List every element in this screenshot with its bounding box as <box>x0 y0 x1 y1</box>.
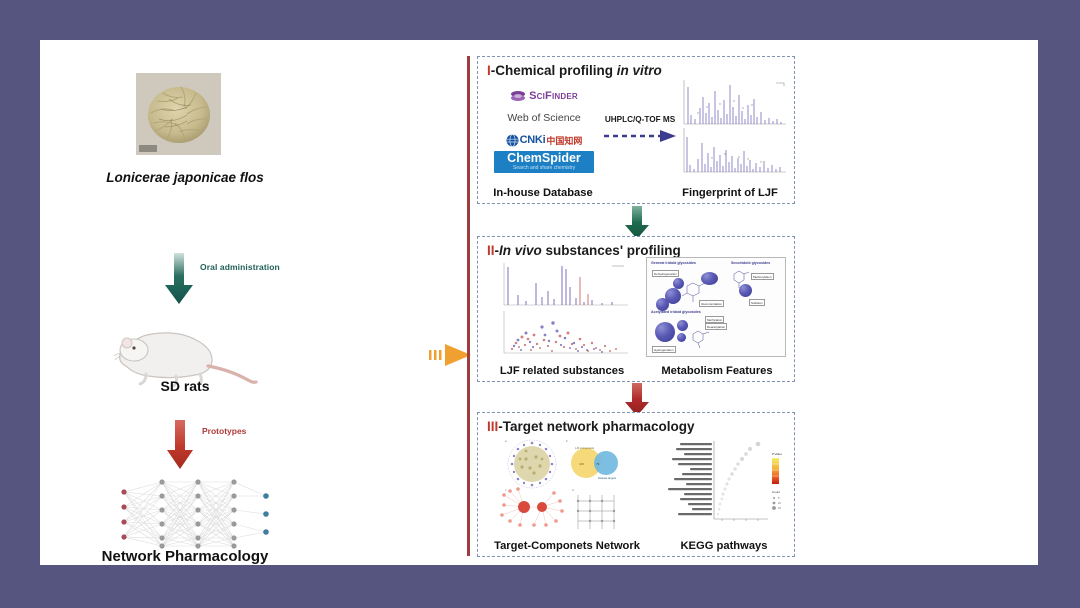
svg-text:a: a <box>505 439 507 443</box>
network-pharmacology-label: Network Pharmacology <box>40 548 330 565</box>
kegg-pathways-dotplot: P.Value Count 51015 <box>650 435 790 533</box>
cnki-logo: CNKi 中国知网 <box>492 129 596 151</box>
metabolite-structure-icon <box>729 268 751 290</box>
prototypes-arrow <box>164 420 196 470</box>
metabolism-features-diagram: General iridoid glycosides Dehydrogenati… <box>646 257 786 357</box>
panel-1-title-italic: in vitro <box>617 63 662 78</box>
neural-network-graph <box>106 476 276 552</box>
ljf-related-substances-spectra <box>492 261 632 357</box>
oral-administration-arrow <box>162 253 196 305</box>
metabolism-group-2-label: Secoiridoid glycosides <box>731 261 770 265</box>
ljf-related-substances-caption: LJF related substances <box>484 365 640 377</box>
panel-2-title-italic: In vivo <box>499 243 542 258</box>
target-components-network-figure: a b LJF components 79 415 Disease target… <box>496 437 636 532</box>
prototypes-label: Prototypes <box>202 426 246 436</box>
panel-2-title: II-In vivo substances' profiling <box>487 243 681 258</box>
oral-administration-label: Oral administration <box>200 262 280 272</box>
svg-text:10: 10 <box>778 502 781 505</box>
slide-background: Lonicerae japonicae flos Oral administra… <box>0 0 1080 608</box>
scifinder-label: SciFinder <box>529 90 578 102</box>
chemspider-tagline: Search and share chemistry <box>494 165 594 171</box>
svg-text:15: 15 <box>778 507 781 510</box>
kegg-color-legend-title: P.Value <box>772 452 782 456</box>
graphical-abstract-canvas: Lonicerae japonicae flos Oral administra… <box>40 40 1038 565</box>
svg-text:c: c <box>505 488 507 492</box>
metabolite-structure-icon <box>687 328 713 350</box>
kegg-size-legend-title: Count <box>772 490 780 494</box>
chemspider-logo: ChemSpider Search and share chemistry <box>492 151 596 173</box>
uhplc-process-label: UHPLC/Q-TOF MS <box>598 115 682 124</box>
panel-in-vivo-profiling: II-In vivo substances' profiling <box>477 236 795 382</box>
cnki-label-cn: 中国知网 <box>546 134 582 147</box>
metabolite-bubble <box>677 333 686 342</box>
svg-text:LJF components: LJF components <box>575 446 595 450</box>
herb-pile-illustration <box>141 79 217 149</box>
metabolism-tag-dehydrogenation: Dehydrogenation <box>652 270 679 277</box>
panel-target-network-pharmacology: III-Target network pharmacology <box>477 412 795 557</box>
target-components-network-caption: Target-Componets Network <box>484 540 650 552</box>
metabolism-features-caption: Metabolism Features <box>642 365 792 377</box>
uhplc-process-arrow <box>602 129 678 143</box>
svg-text:79: 79 <box>596 462 600 466</box>
in-house-database-caption: In-house Database <box>488 187 598 199</box>
metabolite-structure-icon <box>681 280 709 304</box>
chemspider-label: ChemSpider <box>494 152 594 165</box>
web-of-science-label: Web of Science <box>507 112 580 124</box>
metabolism-tag-methoxylation: Methoxylation <box>751 273 774 280</box>
left-workflow-column: Lonicerae japonicae flos Oral administra… <box>40 40 468 565</box>
fingerprint-caption: Fingerprint of LJF <box>664 187 796 199</box>
panel-1-title: I-Chemical profiling in vitro <box>487 63 662 78</box>
ljf-fingerprint-chromatograms <box>676 77 790 177</box>
metabolism-tag-methylation: Methylation <box>705 316 724 323</box>
kegg-pathways-caption: KEGG pathways <box>656 540 792 552</box>
svg-text:d: d <box>572 488 574 492</box>
flow-arrow-panel1-to-panel2 <box>623 206 651 240</box>
panel-2-numeral: II <box>487 243 495 258</box>
panel-2-title-plain: substances' profiling <box>542 243 681 258</box>
metabolism-group-1-label: General iridoid glycosides <box>651 261 696 265</box>
photo-scale-bar <box>139 145 157 152</box>
animal-label: SD rats <box>40 378 330 394</box>
panel-3-title: III-Target network pharmacology <box>487 419 695 434</box>
svg-text:b: b <box>566 439 568 443</box>
cnki-globe-icon <box>506 134 519 147</box>
metabolite-bubble <box>655 322 675 342</box>
scifinder-mark-icon <box>510 90 526 103</box>
cnki-label: CNKi <box>520 134 546 146</box>
in-house-database-logos: SciFinder Web of Science CNKi 中国知网 ChemS… <box>492 85 596 173</box>
lonicerae-japonicae-flos-photo <box>136 73 221 155</box>
svg-text:Disease targets: Disease targets <box>598 476 617 480</box>
panel-1-title-plain: -Chemical profiling <box>491 63 617 78</box>
metabolism-tag-sulfation: Sulfation <box>749 299 765 306</box>
panel-3-title-plain: -Target network pharmacology <box>498 419 694 434</box>
svg-text:415: 415 <box>579 462 584 466</box>
panel-3-numeral: III <box>487 419 498 434</box>
metabolism-tag-hydrogenation: Hydrogenation <box>652 346 676 353</box>
vertical-divider <box>467 56 470 556</box>
web-of-science-logo: Web of Science <box>492 107 596 129</box>
metabolism-group-3-label: Acetylated iridoid glycosides <box>651 310 701 314</box>
herb-label: Lonicerae japonicae flos <box>40 170 330 185</box>
scifinder-logo: SciFinder <box>492 85 596 107</box>
panel-chemical-profiling: I-Chemical profiling in vitro SciFinder … <box>477 56 795 204</box>
svg-text:5: 5 <box>778 497 780 500</box>
